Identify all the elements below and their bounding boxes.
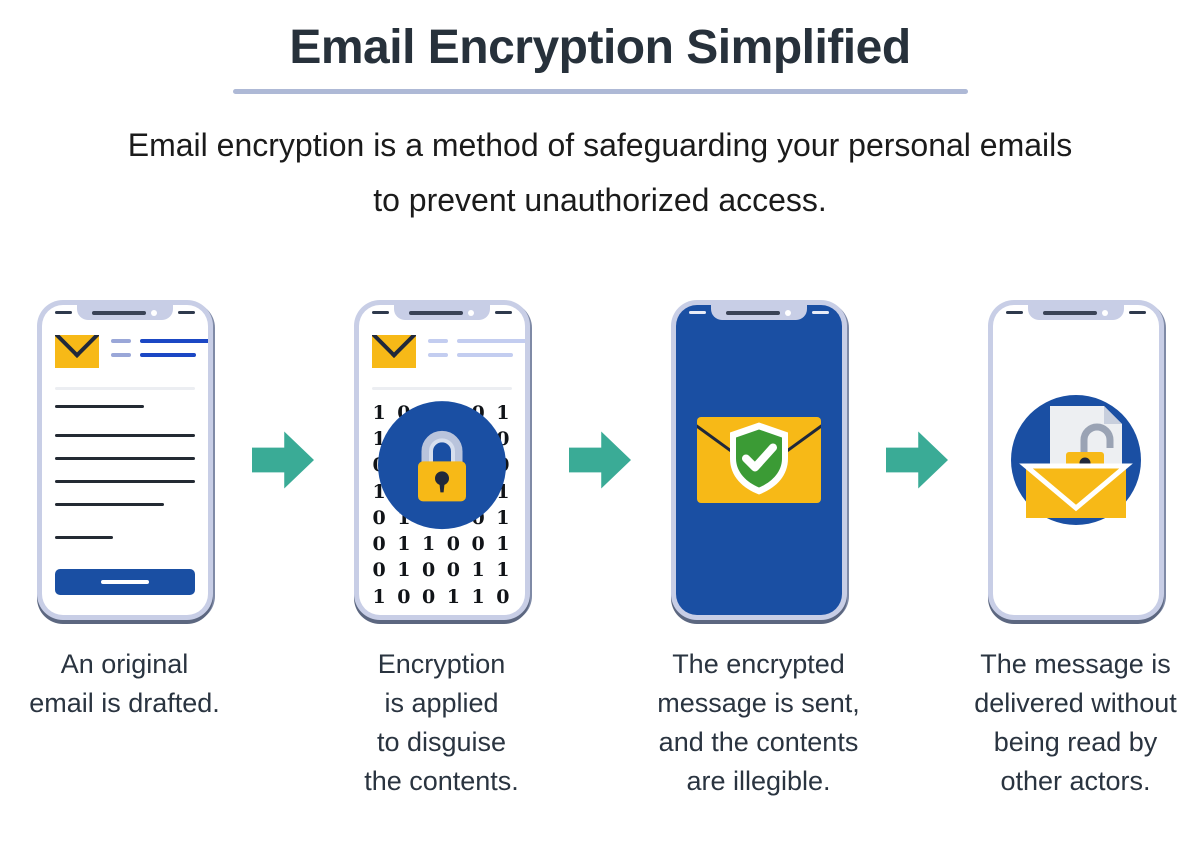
meta-label-bar <box>428 339 448 343</box>
caption-step-3: The encrypted message is sent, and the c… <box>636 645 881 801</box>
header-divider <box>372 387 512 390</box>
body-line <box>55 503 164 506</box>
binary-row: 100110 <box>369 584 515 610</box>
envelope-icon <box>55 335 99 368</box>
mail-meta-lines <box>428 335 525 367</box>
meta-value-bar <box>140 353 196 357</box>
padlock-closed-icon <box>406 421 478 505</box>
speaker-icon <box>726 311 780 315</box>
step-1-draft <box>2 300 247 620</box>
arrow-3 <box>881 300 953 620</box>
status-dash-right <box>812 311 829 314</box>
meta-value-bar <box>457 353 513 357</box>
right-arrow-icon <box>252 429 314 491</box>
meta-label-bar <box>111 353 131 357</box>
phone-mockup-2: 100101 110110 011000 100101 010101 01100… <box>354 300 530 620</box>
right-arrow-icon <box>886 429 948 491</box>
mail-header <box>55 335 195 368</box>
phone-screen-4 <box>993 305 1159 615</box>
body-line <box>55 536 114 539</box>
phone-notch <box>394 305 490 320</box>
caption-spacer <box>247 645 319 801</box>
page-title: Email Encryption Simplified <box>0 22 1200 75</box>
binary-row: 011001 <box>369 531 515 557</box>
steps-row: 100101 110110 011000 100101 010101 01100… <box>0 300 1200 620</box>
caption-spacer <box>564 645 636 801</box>
phone-notch <box>711 305 807 320</box>
caption-step-4: The message is delivered without being r… <box>953 645 1198 801</box>
mail-body-lines <box>55 405 195 539</box>
phone-notch <box>77 305 173 320</box>
page-subtitle: Email encryption is a method of safeguar… <box>120 118 1080 228</box>
phone-mockup-3 <box>671 300 847 620</box>
status-dash-right <box>178 311 195 314</box>
phone-screen-3 <box>676 305 842 615</box>
body-line <box>55 480 195 483</box>
step-3-send <box>636 300 881 620</box>
status-dash-left <box>55 311 72 314</box>
camera-icon <box>1102 310 1108 316</box>
header: Email Encryption Simplified Email encryp… <box>0 0 1200 228</box>
meta-row <box>111 339 208 343</box>
binary-row: 010011 <box>369 557 515 583</box>
header-divider <box>55 387 195 390</box>
meta-row <box>428 353 525 357</box>
meta-row <box>111 353 208 357</box>
phone-mockup-1 <box>37 300 213 620</box>
delivered-mail-group <box>1006 390 1146 530</box>
arrow-2 <box>564 300 636 620</box>
step-4-deliver <box>953 300 1198 620</box>
meta-value-bar <box>140 339 208 343</box>
body-line <box>55 457 195 460</box>
status-dash-left <box>1006 311 1023 314</box>
mail-meta-lines <box>111 335 208 367</box>
envelope-icon <box>1026 466 1126 518</box>
shield-check-icon <box>726 420 792 496</box>
phone-notch <box>1028 305 1124 320</box>
speaker-icon <box>409 311 463 315</box>
caption-step-1: An original email is drafted. <box>2 645 247 801</box>
body-line <box>55 405 145 408</box>
phone-screen-1 <box>42 305 208 615</box>
mail-header <box>372 335 512 368</box>
body-line <box>55 434 195 437</box>
status-dash-left <box>689 311 706 314</box>
camera-icon <box>468 310 474 316</box>
status-dash-right <box>1129 311 1146 314</box>
status-dash-left <box>372 311 389 314</box>
caption-step-2: Encryption is applied to disguise the co… <box>319 645 564 801</box>
right-arrow-icon <box>569 429 631 491</box>
captions-row: An original email is drafted. Encryption… <box>0 645 1200 801</box>
meta-value-bar <box>457 339 525 343</box>
camera-icon <box>785 310 791 316</box>
camera-icon <box>151 310 157 316</box>
step-2-encrypt: 100101 110110 011000 100101 010101 01100… <box>319 300 564 620</box>
send-button-icon <box>101 580 149 584</box>
status-dash-right <box>495 311 512 314</box>
phone-screen-2: 100101 110110 011000 100101 010101 01100… <box>359 305 525 615</box>
envelope-icon <box>372 335 416 368</box>
arrow-1 <box>247 300 319 620</box>
speaker-icon <box>92 311 146 315</box>
title-underline-rule <box>233 89 968 94</box>
send-button[interactable] <box>55 569 195 595</box>
speaker-icon <box>1043 311 1097 315</box>
meta-row <box>428 339 525 343</box>
meta-label-bar <box>428 353 448 357</box>
caption-spacer <box>881 645 953 801</box>
phone-mockup-4 <box>988 300 1164 620</box>
meta-label-bar <box>111 339 131 343</box>
